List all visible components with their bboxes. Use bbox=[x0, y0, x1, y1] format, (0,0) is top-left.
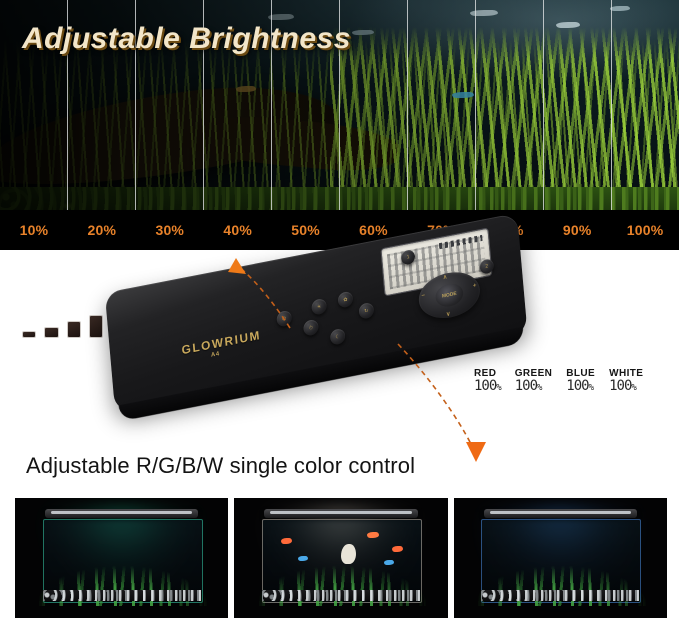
fish bbox=[268, 14, 294, 20]
rgbw-channel-value: 100% bbox=[515, 379, 542, 394]
rgbw-channel-value: 100% bbox=[474, 379, 501, 394]
page-title: Adjustable Brightness bbox=[22, 22, 351, 56]
tank-blue bbox=[454, 498, 667, 618]
fish bbox=[452, 92, 474, 98]
rgbw-channel-value: 100% bbox=[566, 379, 593, 394]
remote-control-section: GLOWRIUM A4 ⏻ ⏱ ☾ ☀ ✿ ↻ 1 2 MODE ∧ ∨ + − bbox=[0, 250, 679, 498]
tall-grass-cluster bbox=[330, 27, 679, 212]
brightness-demo-strip: 10% 20% 30% 40% 50% 60% 70% 80% 90% 100%… bbox=[0, 0, 679, 250]
fish bbox=[384, 560, 394, 565]
brightness-level-label: 30% bbox=[136, 210, 204, 250]
gravel-substrate bbox=[43, 590, 201, 601]
light-fixture bbox=[45, 509, 199, 518]
tank-green bbox=[15, 498, 228, 618]
nav-minus-icon[interactable]: − bbox=[421, 293, 425, 300]
fish bbox=[236, 86, 256, 92]
fish bbox=[556, 22, 580, 28]
brightness-level-labels: 10% 20% 30% 40% 50% 60% 70% 80% 90% 100% bbox=[0, 210, 679, 250]
fish bbox=[610, 6, 630, 11]
light-fixture bbox=[264, 509, 418, 518]
rgbw-channel-white: WHITE 100% bbox=[609, 368, 643, 406]
rgbw-channel-blue: BLUE 100% bbox=[566, 368, 595, 406]
fish-angelfish bbox=[341, 544, 356, 564]
brightness-level-label: 90% bbox=[543, 210, 611, 250]
tank-white bbox=[234, 498, 447, 618]
step-bar bbox=[44, 327, 58, 338]
fish bbox=[352, 30, 374, 35]
remote-control[interactable]: GLOWRIUM A4 ⏻ ⏱ ☾ ☀ ✿ ↻ 1 2 MODE ∧ ∨ + − bbox=[110, 275, 550, 450]
step-bar bbox=[89, 315, 103, 338]
brightness-level-label: 100% bbox=[611, 210, 679, 250]
rgbw-channel-green: GREEN 100% bbox=[515, 368, 553, 406]
rgbw-channel-red: RED 100% bbox=[474, 368, 501, 406]
step-bar bbox=[67, 321, 81, 338]
fish bbox=[367, 532, 379, 538]
gravel-substrate bbox=[262, 590, 420, 601]
tank-gallery bbox=[15, 498, 667, 618]
light-fixture bbox=[484, 509, 638, 518]
step-bar bbox=[22, 331, 36, 338]
nav-plus-icon[interactable]: + bbox=[473, 283, 477, 290]
brightness-level-label: 40% bbox=[204, 210, 272, 250]
fish bbox=[470, 10, 498, 16]
nav-up-icon[interactable]: ∧ bbox=[443, 273, 448, 281]
rgbw-readout: RED 100% GREEN 100% BLUE 100% WHITE 100% bbox=[474, 368, 664, 406]
brightness-level-label: 20% bbox=[68, 210, 136, 250]
remote-mode-button[interactable]: MODE bbox=[435, 281, 464, 308]
brightness-level-label: 50% bbox=[272, 210, 340, 250]
section-subheading: Adjustable R/G/B/W single color control bbox=[26, 453, 415, 479]
gravel-substrate bbox=[481, 590, 639, 601]
nav-down-icon[interactable]: ∨ bbox=[446, 310, 451, 318]
brightness-level-label: 10% bbox=[0, 210, 68, 250]
rgbw-channel-value: 100% bbox=[609, 379, 636, 394]
